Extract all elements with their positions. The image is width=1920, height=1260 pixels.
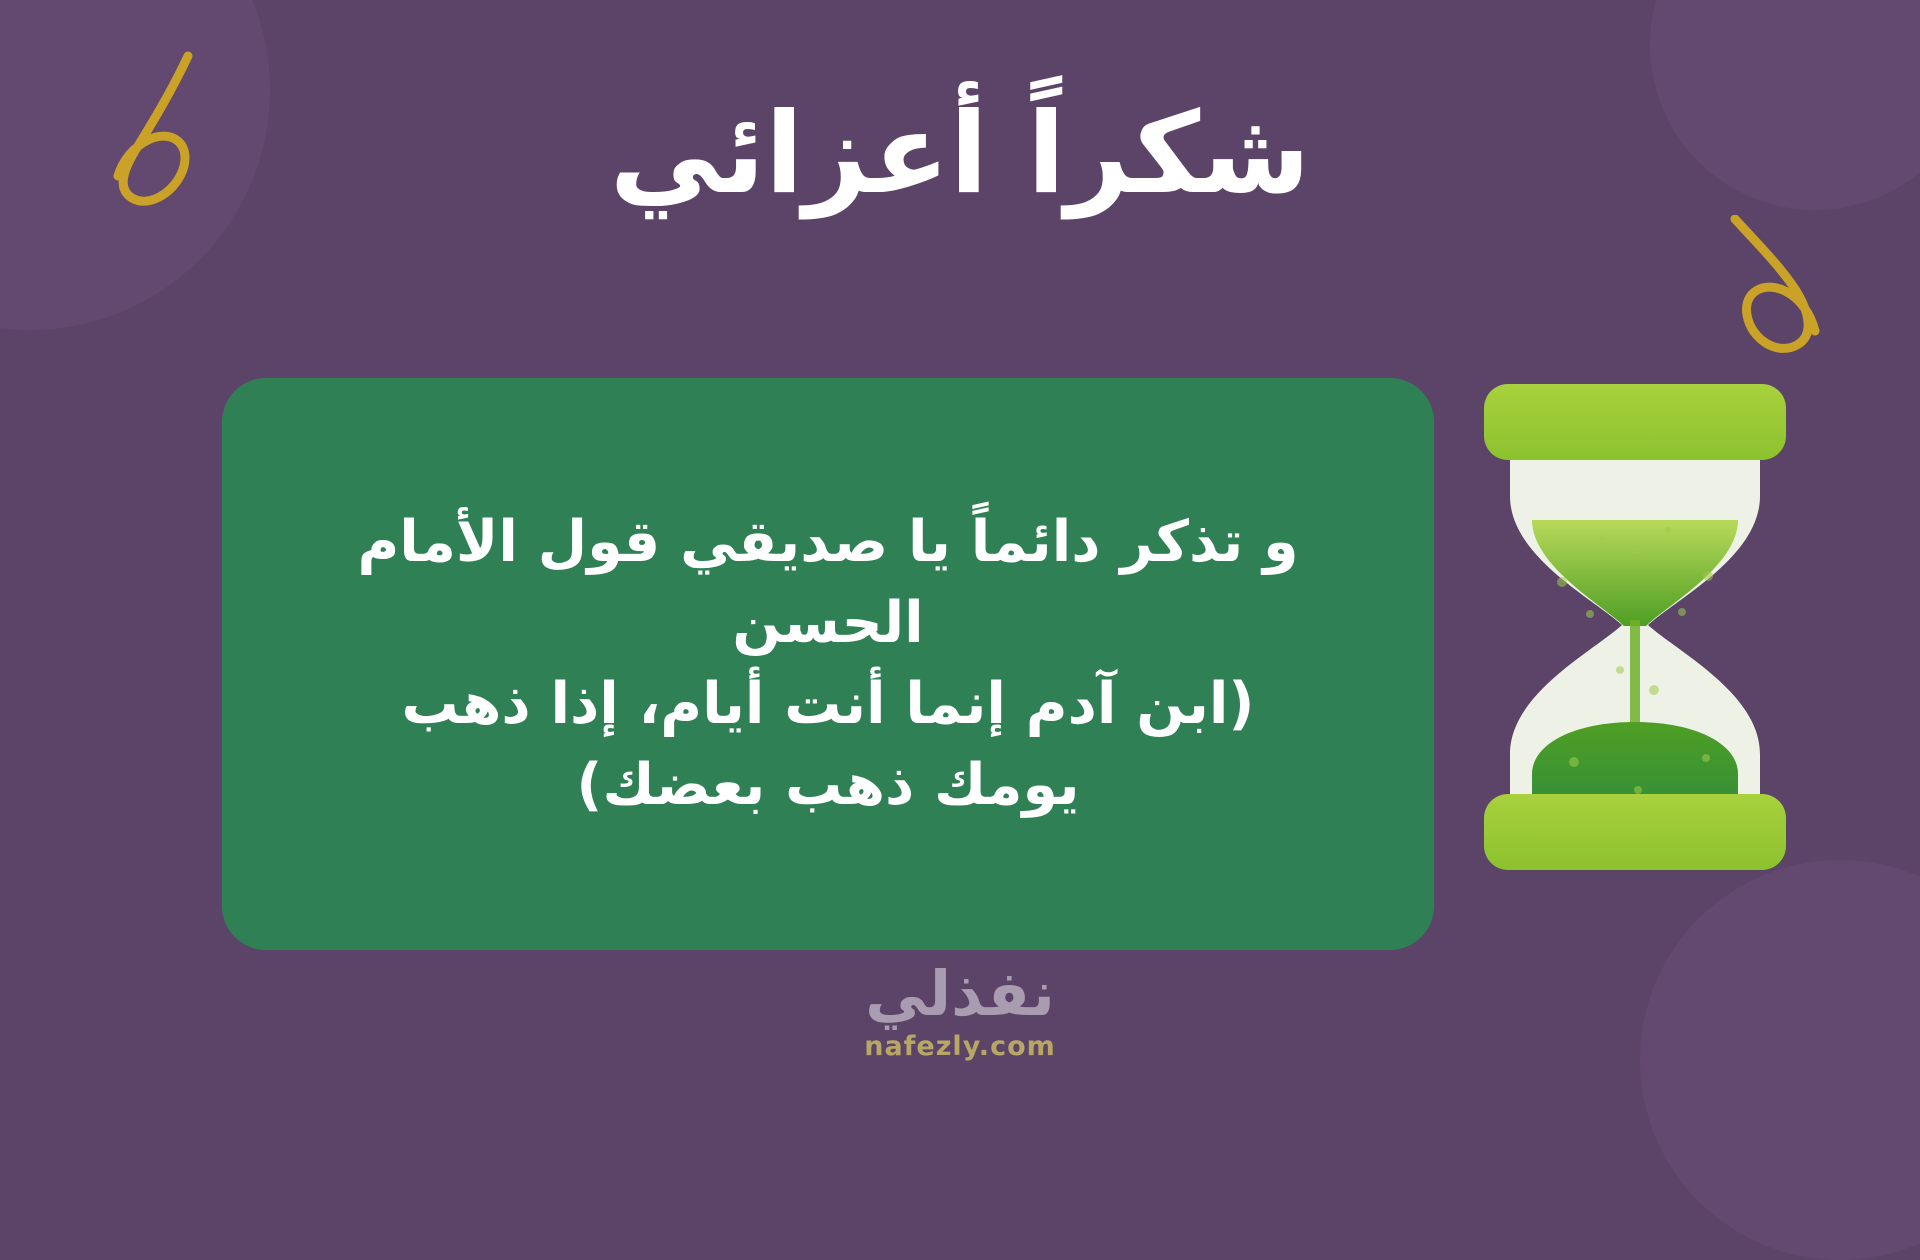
quote-line: و تذكر دائماً يا صديقي قول الأمام [282,502,1374,583]
watermark-arabic: نفذلي [0,963,1920,1025]
watermark: نفذلي nafezly.com [0,963,1920,1062]
watermark-latin: nafezly.com [0,1031,1920,1062]
quote-line: يومك ذهب بعضك) [282,745,1374,826]
quote-card: و تذكر دائماً يا صديقي قول الأمام الحسن … [222,378,1434,950]
gold-loop-squiggle-right [1715,215,1825,369]
page-title: شكراً أعزائي [0,96,1920,214]
quote-line: الحسن [282,583,1374,664]
hourglass-icon [1470,370,1800,880]
quote-text: و تذكر دائماً يا صديقي قول الأمام الحسن … [282,502,1374,826]
quote-line: (ابن آدم إنما أنت أيام، إذا ذهب [282,664,1374,745]
